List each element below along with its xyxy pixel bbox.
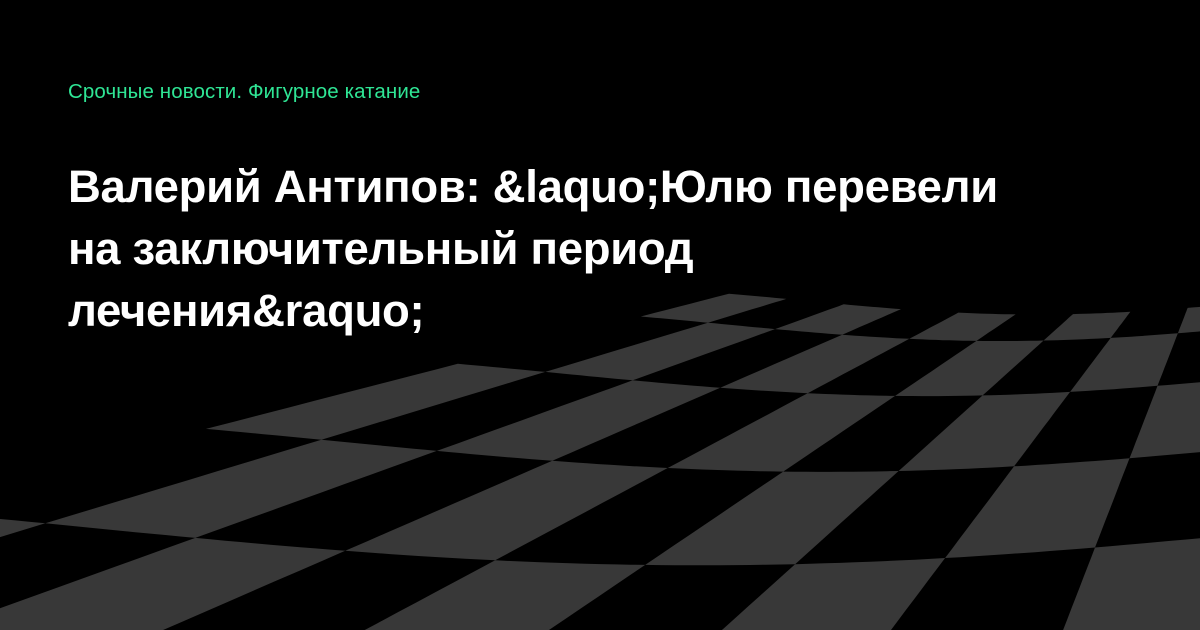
page-title: Валерий Антипов: &laquo;Юлю перевели на … <box>68 156 1138 342</box>
headline-line-3: лечения&raquo; <box>68 280 1138 342</box>
kicker-label: Срочные новости. Фигурное катание <box>68 79 420 105</box>
headline-line-2: на заключительный период <box>68 218 1138 280</box>
social-share-card: Срочные новости. Фигурное катание Валери… <box>0 0 1200 630</box>
headline-line-1: Валерий Антипов: &laquo;Юлю перевели <box>68 156 1138 218</box>
checker-tiles <box>0 294 1200 630</box>
